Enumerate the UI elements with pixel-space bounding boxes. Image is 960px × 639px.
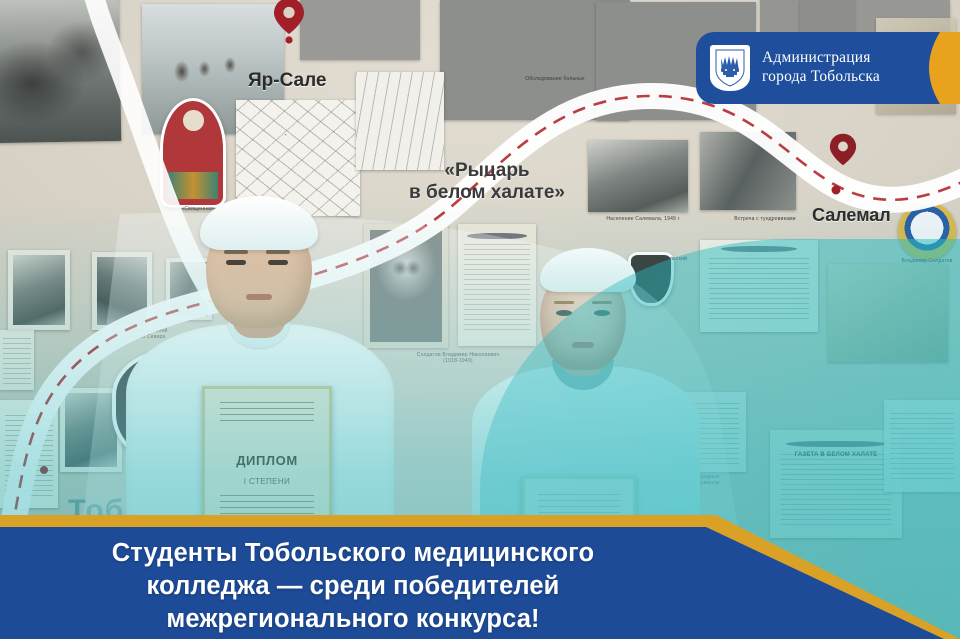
caption-banner: Студенты Тобольского медицинского коллед… — [0, 515, 960, 639]
white-medical-cap — [540, 248, 636, 292]
exhibit-title-line1: «Рыцарь — [392, 160, 582, 181]
badge-text: Администрация города Тобольска — [762, 49, 880, 87]
map-pin-icon — [272, 0, 306, 49]
diploma-subtitle: I СТЕПЕНИ — [205, 477, 329, 486]
student-right — [462, 248, 712, 540]
place-label-yar-sale: Яр-Сале — [248, 70, 327, 92]
exhibit-title-line2: в белом халате» — [372, 182, 602, 203]
badge-line-1: Администрация — [762, 49, 880, 68]
caption-line-3: межрегионального конкурса! — [0, 603, 706, 636]
caption-line-2: колледжа — среди победителей — [0, 570, 706, 603]
student-left: ДИПЛОМ I СТЕПЕНИ — [120, 196, 400, 541]
place-label-salemal: Салемал — [812, 205, 891, 226]
diploma-title: ДИПЛОМ — [205, 453, 329, 468]
badge-line-2: города Тобольска — [762, 68, 880, 87]
caption-text: Студенты Тобольского медицинского коллед… — [0, 537, 706, 636]
white-medical-cap — [200, 196, 318, 250]
tobolsk-coat-of-arms-icon — [710, 45, 750, 91]
badge-blue-plate: Администрация города Тобольска — [696, 32, 940, 104]
news-photo-card: Рукавицы жителей Крайнего Севера Ирина «… — [0, 0, 960, 639]
caption-line-1: Студенты Тобольского медицинского — [0, 537, 706, 570]
map-pin-icon — [828, 132, 858, 179]
diploma-header-lines — [220, 402, 314, 421]
